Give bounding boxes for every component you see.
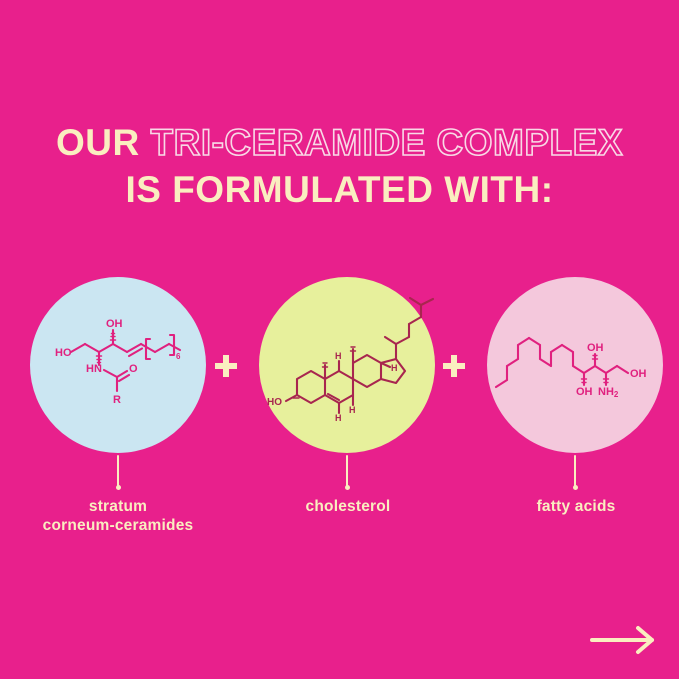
atom-label-h-2: H [349, 405, 356, 415]
connector-line-fatty-acids [573, 455, 577, 491]
label-line-1: fatty acids [458, 497, 679, 516]
atom-label-ho: HO [55, 347, 72, 359]
connector-dot [573, 485, 578, 490]
atom-label-r: R [113, 394, 121, 406]
ceramide-structure-icon: HO OH HN O R 6 [30, 277, 206, 453]
cholesterol-structure-icon: HO H H H H [259, 277, 435, 453]
atom-label-h-3: H [335, 413, 342, 423]
ingredient-label-ceramide: stratum corneum-ceramides [0, 497, 236, 536]
connector-stem [346, 455, 348, 487]
arrow-right-icon [588, 625, 660, 655]
atom-label-h-4: H [391, 363, 398, 373]
ingredient-row: HO OH HN O R 6 [0, 277, 679, 457]
atom-label-ho: HO [267, 397, 282, 408]
atom-label-nh2: NH2 [598, 386, 619, 399]
connector-line-ceramide [116, 455, 120, 491]
label-line-2: corneum-ceramides [0, 516, 236, 535]
atom-label-sub6: 6 [176, 352, 181, 361]
headline-solid-word: OUR [56, 122, 140, 163]
connector-line-cholesterol [345, 455, 349, 491]
connector-stem [574, 455, 576, 487]
atom-label-h-1: H [335, 351, 342, 361]
label-line-1: stratum [0, 497, 236, 516]
headline-line-2: IS FORMULATED WITH: [0, 171, 679, 208]
atom-label-oh: OH [106, 318, 123, 330]
headline-space [140, 122, 151, 163]
connector-stem [117, 455, 119, 487]
label-line-1: cholesterol [230, 497, 466, 516]
page-title: OUR TRI-CERAMIDE COMPLEX IS FORMULATED W… [0, 124, 679, 208]
atom-label-o: O [129, 363, 138, 375]
slide-canvas: OUR TRI-CERAMIDE COMPLEX IS FORMULATED W… [0, 0, 679, 679]
ingredient-label-fatty-acids: fatty acids [458, 497, 679, 516]
plus-icon-1 [213, 353, 239, 379]
ingredient-bubble-ceramide[interactable]: HO OH HN O R 6 [30, 277, 206, 453]
atom-label-oh-top: OH [587, 342, 604, 354]
next-arrow-button[interactable] [588, 625, 660, 655]
headline-line-1: OUR TRI-CERAMIDE COMPLEX [0, 124, 679, 161]
headline-outline-words: TRI-CERAMIDE COMPLEX [151, 122, 624, 163]
atom-label-oh-bottom: OH [576, 386, 593, 398]
ingredient-bubble-fatty-acids[interactable]: OH OH NH2 OH [487, 277, 663, 453]
connector-dot [345, 485, 350, 490]
ingredient-bubble-cholesterol[interactable]: HO H H H H [259, 277, 435, 453]
connector-dot [116, 485, 121, 490]
plus-icon-2 [441, 353, 467, 379]
fatty-acid-structure-icon: OH OH NH2 OH [487, 277, 663, 453]
atom-label-hn: HN [86, 363, 102, 375]
atom-label-oh-right: OH [630, 368, 647, 380]
ingredient-label-cholesterol: cholesterol [230, 497, 466, 516]
